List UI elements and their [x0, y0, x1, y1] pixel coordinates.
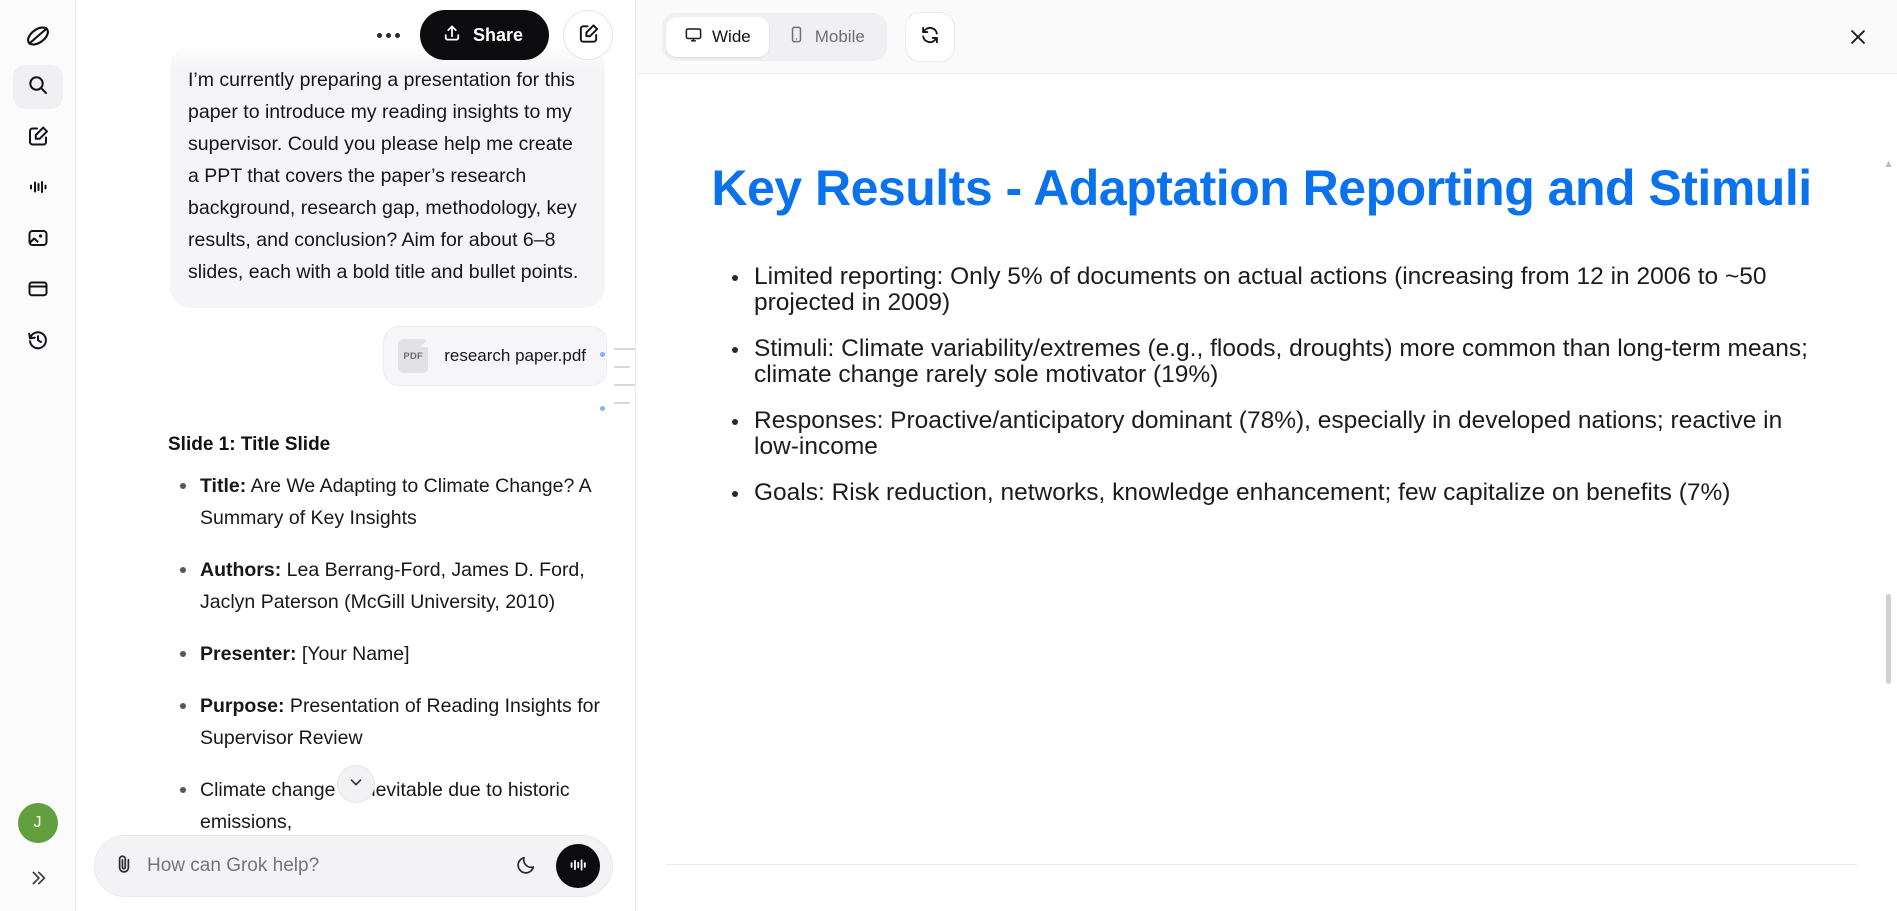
- edit-square-icon: [26, 124, 50, 153]
- tab-mobile[interactable]: Mobile: [769, 17, 883, 57]
- share-label: Share: [473, 25, 523, 46]
- moon-icon: [515, 854, 537, 879]
- upload-icon: [442, 23, 462, 48]
- sidebar-item-voice[interactable]: [13, 167, 63, 211]
- grok-logo-icon[interactable]: [16, 14, 60, 58]
- tab-mobile-label: Mobile: [815, 27, 865, 47]
- avatar[interactable]: J: [18, 803, 58, 843]
- list-item: Title: Are We Adapting to Climate Change…: [168, 470, 605, 534]
- message-input[interactable]: [147, 855, 496, 877]
- chevron-down-icon: [347, 773, 365, 796]
- edit-square-icon: [577, 22, 600, 48]
- sidebar-item-search[interactable]: [13, 65, 63, 109]
- bullet-label: Authors:: [200, 559, 281, 581]
- marker-line: [614, 366, 630, 368]
- image-card-icon: [26, 226, 50, 255]
- bullet-text: Are We Adapting to Climate Change? A Sum…: [200, 475, 591, 529]
- voice-waveform-icon: [567, 854, 589, 879]
- list-item: Presenter: [Your Name]: [168, 638, 605, 670]
- folder-icon: [26, 277, 50, 306]
- voice-mode-button[interactable]: [556, 844, 600, 888]
- slide-canvas: Key Results - Adaptation Reporting and S…: [666, 74, 1857, 865]
- close-preview-button[interactable]: [1841, 22, 1875, 56]
- attachment-row: PDF research paper.pdf: [76, 326, 607, 386]
- refresh-icon: [919, 24, 941, 49]
- slide-bullet-text: Goals: Risk reduction, networks, knowled…: [754, 480, 1813, 506]
- search-icon: [26, 73, 50, 102]
- chat-header: Share: [76, 0, 635, 70]
- ellipsis-icon[interactable]: [372, 18, 406, 52]
- list-item: Authors: Lea Berrang-Ford, James D. Ford…: [168, 554, 605, 618]
- slide-bullet-text: Limited reporting: Only 5% of documents …: [754, 264, 1813, 316]
- bullet-label: Presenter:: [200, 643, 296, 665]
- slide-bullet-text: Stimuli: Climate variability/extremes (e…: [754, 336, 1813, 388]
- tab-wide[interactable]: Wide: [666, 17, 769, 57]
- slide-title: Key Results - Adaptation Reporting and S…: [710, 160, 1813, 216]
- assistant-bullet-list: Title: Are We Adapting to Climate Change…: [168, 470, 605, 838]
- bullet-text: [Your Name]: [296, 643, 409, 665]
- bullet-label: Purpose:: [200, 695, 285, 717]
- scroll-to-bottom-button[interactable]: [337, 765, 375, 803]
- slide-bullet-list: Limited reporting: Only 5% of documents …: [710, 264, 1813, 506]
- tab-wide-label: Wide: [712, 27, 751, 47]
- edit-conversation-button[interactable]: [563, 10, 613, 60]
- phone-icon: [787, 25, 806, 49]
- message-scroll-markers: [600, 348, 635, 420]
- user-message-bubble: I’m currently preparing a presentation f…: [170, 46, 605, 308]
- preview-panel: Wide Mobile: [636, 0, 1897, 911]
- app-root: J Share: [0, 0, 1897, 911]
- list-item: Goals: Risk reduction, networks, knowled…: [728, 480, 1813, 506]
- attachment-file-name: research paper.pdf: [444, 346, 586, 366]
- history-clock-icon: [26, 328, 50, 357]
- avatar-initial: J: [34, 814, 42, 832]
- slide-bullet-text: Responses: Proactive/anticipatory domina…: [754, 408, 1813, 460]
- left-icon-rail: J: [0, 0, 76, 911]
- marker-line: [614, 384, 635, 386]
- slide-stage: Key Results - Adaptation Reporting and S…: [636, 74, 1897, 911]
- share-button[interactable]: Share: [420, 10, 549, 60]
- slide-heading: Slide 1: Title Slide: [168, 434, 605, 456]
- bullet-label: Title:: [200, 475, 246, 497]
- paperclip-icon[interactable]: [113, 853, 135, 880]
- sidebar-item-projects[interactable]: [13, 269, 63, 313]
- marker-dot: [600, 352, 605, 357]
- refresh-preview-button[interactable]: [905, 12, 955, 62]
- chat-panel: Share I’m currently preparing a presenta…: [76, 0, 636, 911]
- close-icon: [1847, 26, 1869, 53]
- theme-toggle-button[interactable]: [508, 848, 544, 884]
- marker-line: [614, 348, 635, 350]
- marker-line: [614, 402, 630, 404]
- monitor-icon: [684, 25, 703, 49]
- sidebar-item-history[interactable]: [13, 320, 63, 364]
- list-item: Limited reporting: Only 5% of documents …: [728, 264, 1813, 316]
- sidebar-item-compose[interactable]: [13, 116, 63, 160]
- viewport-toggle-group: Wide Mobile: [662, 13, 887, 61]
- double-chevron-right-icon[interactable]: [20, 863, 56, 893]
- list-item: Responses: Proactive/anticipatory domina…: [728, 408, 1813, 460]
- preview-scrollbar[interactable]: [1886, 154, 1891, 854]
- waveform-icon: [26, 175, 50, 204]
- assistant-message: Slide 1: Title Slide Title: Are We Adapt…: [168, 434, 605, 838]
- pdf-file-icon: PDF: [398, 339, 428, 373]
- marker-dot: [600, 406, 605, 411]
- list-item: Purpose: Presentation of Reading Insight…: [168, 690, 605, 754]
- list-item-faded: Climate change is inevitable due to hist…: [168, 774, 605, 838]
- sidebar-item-imagine[interactable]: [13, 218, 63, 262]
- preview-header: Wide Mobile: [636, 0, 1897, 74]
- message-composer: [94, 835, 613, 897]
- attachment-chip[interactable]: PDF research paper.pdf: [383, 326, 607, 386]
- list-item: Stimuli: Climate variability/extremes (e…: [728, 336, 1813, 388]
- preview-scrollbar-thumb[interactable]: [1886, 594, 1891, 684]
